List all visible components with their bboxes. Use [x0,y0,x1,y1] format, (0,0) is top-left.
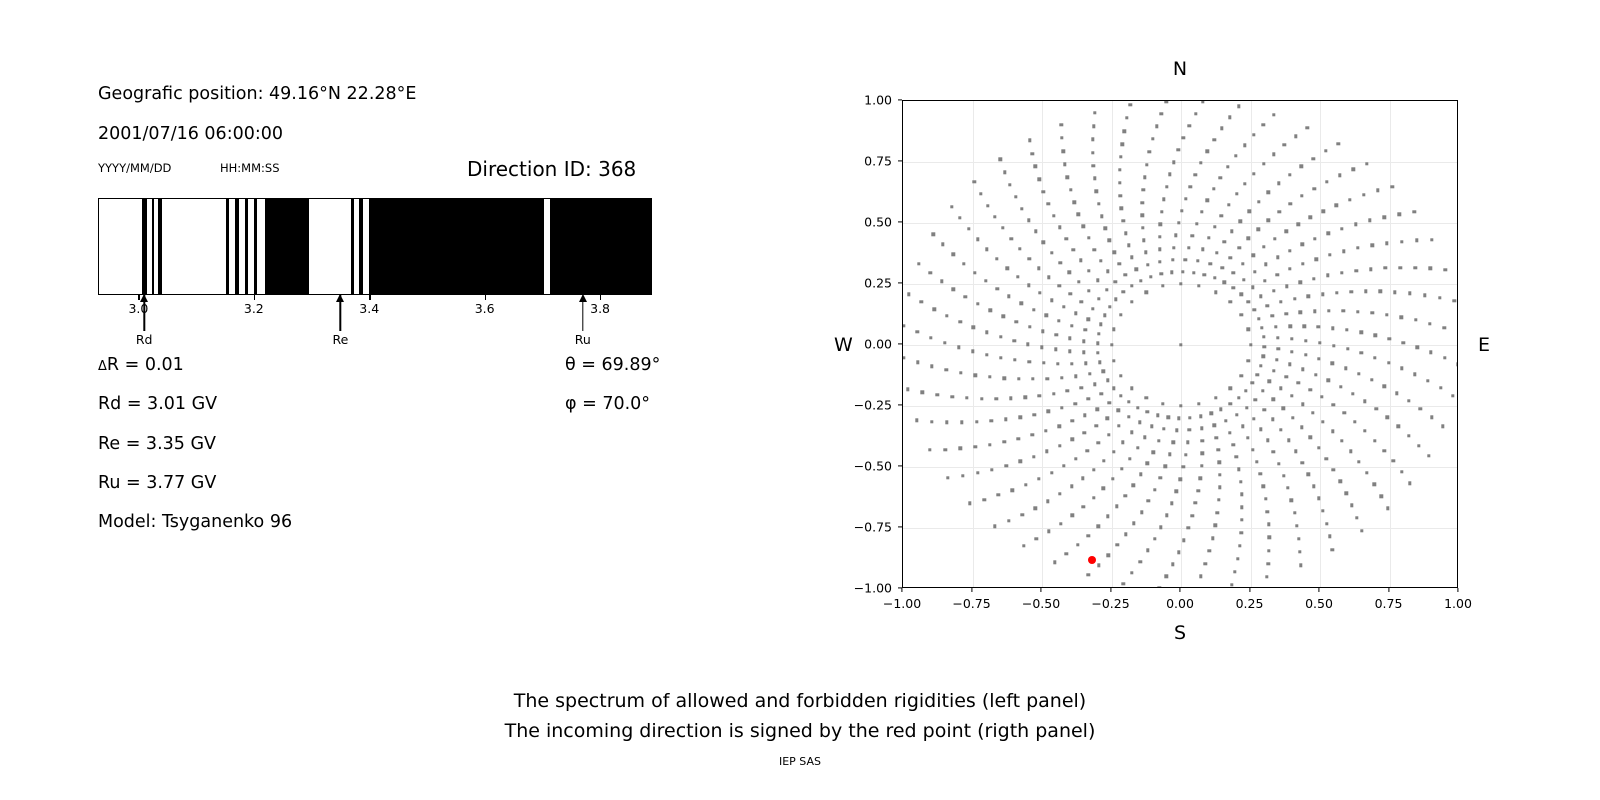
direction-dot [1159,112,1162,115]
direction-dot [1299,564,1302,567]
direction-dot [1239,374,1242,377]
direction-dot [1033,413,1036,416]
param-ru: Ru = 3.77 GV [98,473,216,493]
direction-dot [1293,297,1296,300]
x-tick-label: 0.75 [1375,596,1403,611]
forbidden-band [152,199,155,294]
rigidity-spectrum-panel: Geografic position: 49.16°N 22.28°E 2001… [0,0,760,680]
direction-dot [1272,289,1275,292]
direction-dot [1350,504,1353,507]
direction-dot [974,374,977,377]
direction-dot [1240,505,1243,508]
direction-dot [1443,326,1446,329]
direction-dot [1167,416,1170,419]
x-tick-mark [1179,588,1180,592]
direction-dot [1259,428,1262,431]
time-format-hint: HH:MM:SS [220,161,280,175]
direction-dot [1053,561,1056,564]
direction-dot [1227,203,1230,206]
direction-dot [1017,437,1020,440]
direction-dot [1088,372,1091,375]
direction-dot [1018,460,1021,463]
direction-dot [1374,333,1377,336]
direction-dot [1304,339,1307,342]
direction-dot [1306,126,1309,129]
direction-dot [1184,453,1187,456]
direction-dot [1297,381,1300,384]
direction-dot [1054,348,1057,351]
forbidden-band [359,199,363,294]
direction-dot [1055,333,1058,336]
direction-dot [1104,227,1107,230]
direction-dot [1177,148,1180,151]
direction-dot [1108,305,1111,308]
direction-dot [1200,427,1203,430]
direction-dot [1115,505,1118,508]
direction-dot [1324,149,1327,152]
direction-dot [1301,402,1304,405]
direction-dot [1027,284,1030,287]
direction-dot [965,396,968,399]
direction-dot [1298,550,1301,553]
direction-dot [1277,462,1280,465]
forbidden-band [226,199,230,294]
direction-dot [1081,476,1084,479]
direction-dot [1286,486,1289,489]
direction-dot [1052,392,1055,395]
direction-dot [1061,150,1064,153]
direction-dot [1266,439,1269,442]
x-tick-label: 0.50 [1305,596,1333,611]
direction-dot [1171,563,1174,566]
direction-dot [1152,450,1155,453]
direction-dot [996,287,999,290]
direction-dot [985,353,988,356]
direction-dot [1110,343,1113,346]
direction-dot [1200,464,1203,467]
direction-dot [982,498,985,501]
direction-dot [916,330,919,333]
direction-dot [1321,509,1324,512]
direction-dot [1213,276,1216,279]
direction-dot [1392,459,1395,462]
direction-dot [1252,308,1255,311]
direction-dot [1072,248,1075,251]
direction-dot [1283,143,1286,146]
direction-dot [1170,502,1173,505]
direction-dot [941,243,944,246]
direction-dot [1301,367,1304,370]
x-tick-mark [901,588,902,592]
direction-dot [1151,137,1154,140]
direction-dot [1212,424,1215,427]
direction-dot [976,238,979,241]
direction-dot [1201,451,1204,454]
direction-dot [1219,408,1222,411]
direction-dot [1028,325,1031,328]
direction-scatter-area [903,101,1457,587]
direction-dot [1265,575,1268,578]
direction-dot [1023,396,1026,399]
direction-dot [1266,304,1269,307]
param-model: Model: Tsyganenko 96 [98,512,292,532]
direction-dot [1271,418,1274,421]
direction-dot [1130,256,1133,259]
direction-dot [1172,246,1175,249]
direction-dot [1080,300,1083,303]
direction-dot [1013,339,1016,342]
direction-dot [1114,297,1117,300]
direction-dot [952,288,955,291]
direction-dot [1081,225,1084,228]
direction-dot [936,393,939,396]
param-re: Re = 3.35 GV [98,434,216,454]
direction-dot [1239,531,1242,534]
direction-dot [1298,280,1301,283]
direction-dot [1359,331,1362,334]
direction-dot [1145,163,1148,166]
direction-dot [1219,176,1222,179]
direction-dot [1013,358,1016,361]
incoming-direction-marker [1088,556,1096,564]
direction-dot [1228,431,1231,434]
direction-dot [1429,267,1432,270]
direction-dot [1180,209,1183,212]
direction-dot [1353,420,1356,423]
direction-dot [1312,277,1315,280]
direction-dot [1124,273,1127,276]
direction-dot [1149,275,1152,278]
direction-dot [1399,315,1402,318]
direction-dot [1235,455,1238,458]
direction-dot [1288,173,1291,176]
direction-dot [1438,296,1441,299]
direction-dot [1188,124,1191,127]
direction-dot [1277,210,1280,213]
direction-dot [1309,216,1312,219]
direction-dot [1399,266,1402,269]
x-tick-label: −1.00 [883,596,921,611]
direction-dot [932,307,935,310]
direction-dot [1119,313,1122,316]
direction-dot [1363,399,1366,402]
direction-dot [1380,494,1383,497]
direction-dot [1276,347,1279,350]
direction-dot [1079,259,1082,262]
forbidden-band [265,199,309,294]
direction-dot [1279,387,1282,390]
direction-dot [1234,154,1237,157]
direction-dot [1130,300,1133,303]
direction-dot [1263,279,1266,282]
direction-dot [1127,400,1130,403]
direction-dot [1033,507,1036,510]
direction-dot [1106,378,1109,381]
direction-dot [1383,449,1386,452]
direction-dot [1385,241,1388,244]
direction-dot [1197,284,1200,287]
direction-dot [1331,429,1334,432]
direction-dot [1003,170,1006,173]
rigidity-tick-label: 3.2 [244,301,264,316]
direction-dot [1082,339,1085,342]
direction-dot [1132,522,1135,525]
direction-dot [1335,291,1338,294]
direction-dot [1289,202,1292,205]
direction-dot [1246,328,1249,331]
direction-dot [1208,549,1211,552]
direction-dot [1456,362,1457,365]
direction-dot [1097,297,1100,300]
direction-dot [1096,407,1099,410]
direction-dot [1363,429,1366,432]
direction-dot [1325,180,1328,183]
direction-dot [1294,134,1297,137]
param-rd: Rd = 3.01 GV [98,394,217,414]
direction-dot [1096,279,1099,282]
direction-dot [1093,177,1096,180]
direction-dot [959,447,962,450]
direction-dot [1327,379,1330,382]
rigidity-tick-label: 3.0 [128,301,148,316]
direction-dot [1095,190,1098,193]
direction-dot [1062,305,1065,308]
direction-dot [1272,398,1275,401]
direction-dot [1035,537,1038,540]
direction-dot [1120,467,1123,470]
direction-dot [1429,351,1432,354]
x-tick-mark [1040,588,1041,592]
gridline-horizontal [903,528,1457,529]
direction-dot [1266,510,1269,513]
direction-dot [1158,235,1161,238]
direction-dot [1386,416,1389,419]
direction-dot [1317,497,1320,500]
direction-dot [1332,403,1335,406]
direction-dot [1294,450,1297,453]
direction-dot [1119,394,1122,397]
direction-dot [1102,487,1105,490]
direction-dot [1119,374,1122,377]
direction-dot [1218,486,1221,489]
y-tick-mark [898,587,902,588]
direction-dot [1400,240,1403,243]
direction-dot [972,326,975,329]
direction-dot [932,233,935,236]
y-tick-mark [898,343,902,344]
direction-dot [1203,273,1206,276]
gridline-vertical [973,101,974,587]
direction-dot [1118,181,1121,184]
direction-dot [1413,373,1416,376]
direction-dot [1041,329,1044,332]
direction-dot [1335,204,1338,207]
direction-dot [1188,416,1191,419]
direction-dot [1125,116,1128,119]
direction-dot [1123,129,1126,132]
direction-dot [1214,290,1217,293]
direction-dot [1037,477,1040,480]
y-tick-mark [898,160,902,161]
direction-dot [1150,425,1153,428]
y-tick-mark [898,404,902,405]
direction-dot [1179,282,1182,285]
direction-dot [1229,256,1232,259]
direction-dot [1087,534,1090,537]
direction-dot [1291,416,1294,419]
direction-dot [1130,284,1133,287]
direction-dot [1156,414,1159,417]
direction-dot [1060,123,1063,126]
direction-dot [1077,213,1080,216]
direction-dot [1236,557,1239,560]
direction-dot [1020,513,1023,516]
direction-dot [1171,258,1174,261]
direction-dot [1321,209,1324,212]
direction-dot [1162,198,1165,201]
direction-dot [1092,164,1095,167]
direction-dot [1338,174,1341,177]
direction-dot [1243,144,1246,147]
direction-dot [1340,271,1343,274]
direction-dot [1074,402,1077,405]
direction-dot [1285,375,1288,378]
direction-dot [1174,234,1177,237]
direction-dot [1216,448,1219,451]
direction-dot [1147,499,1150,502]
direction-dot [1124,494,1127,497]
rigidity-tick-label: 3.8 [590,301,610,316]
direction-dot [1076,543,1079,546]
direction-plot-frame [902,100,1458,588]
direction-dot [1093,383,1096,386]
direction-dot [1155,125,1158,128]
x-tick-label: −0.75 [952,596,990,611]
direction-dot [1092,496,1095,499]
footer-credit: IEP SAS [0,755,1600,768]
direction-dot [1356,246,1359,249]
direction-dot [1038,394,1041,397]
direction-dot [1168,453,1171,456]
direction-dot [1262,335,1265,338]
direction-dot [1164,465,1167,468]
direction-dot [1263,345,1266,348]
x-tick-mark [1249,588,1250,592]
direction-dot [1077,280,1080,283]
direction-dot [1199,414,1202,417]
direction-dot [1057,319,1060,322]
direction-dot [1272,153,1275,156]
direction-dot [1259,294,1262,297]
direction-dot [1139,279,1142,282]
direction-dot [1200,210,1203,213]
direction-dot [1120,207,1123,210]
direction-dot [1388,337,1391,340]
direction-dot [1257,317,1260,320]
direction-dot [1044,314,1047,317]
direction-dot [1145,396,1148,399]
direction-dot [1102,370,1105,373]
direction-dot [1383,215,1386,218]
direction-dot [989,309,992,312]
direction-dot [1351,392,1354,395]
direction-dot [1274,325,1277,328]
rigidity-tick-mark [369,295,370,300]
direction-dot [1368,219,1371,222]
direction-dot [1081,505,1084,508]
direction-dot [1199,574,1202,577]
direction-dot [1199,161,1202,164]
direction-dot [1003,377,1006,380]
arrow-head-icon [579,294,587,302]
direction-dot [1288,325,1291,328]
direction-dot [1352,168,1355,171]
direction-dot [1170,271,1173,274]
direction-dot [1179,343,1182,346]
direction-dot [1084,362,1087,365]
direction-dot [1087,317,1090,320]
rigidity-spectrum-bar [98,198,652,295]
direction-dot [1096,342,1099,345]
direction-dot [1312,157,1315,160]
direction-id-label: Direction ID: 368 [467,157,636,181]
direction-dot [1267,219,1270,222]
direction-dot [980,397,983,400]
direction-dot [1165,514,1168,517]
direction-dot [1096,351,1099,354]
direction-dot [1159,525,1162,528]
direction-dot [961,474,964,477]
direction-dot [1214,396,1217,399]
direction-dot [1246,359,1249,362]
direction-dot [1177,551,1180,554]
direction-dot [1241,262,1244,265]
direction-dot [1217,498,1220,501]
direction-dot [1031,377,1034,380]
direction-dot [1034,165,1037,168]
direction-dot [1288,249,1291,252]
rigidity-tick-label: 3.6 [475,301,495,316]
direction-dot [1233,570,1236,573]
direction-dot [1050,299,1053,302]
direction-dot [1317,357,1320,360]
direction-dot [1407,399,1410,402]
direction-dot [1240,493,1243,496]
direction-dot [1206,149,1209,152]
rigidity-marker-label: Rd [136,332,153,347]
direction-dot [1074,457,1077,460]
direction-dot [957,346,960,349]
direction-dot [985,248,988,251]
direction-dot [1321,420,1324,423]
direction-dot [1034,230,1037,233]
direction-dot [1261,389,1264,392]
direction-dot [1260,326,1263,329]
direction-dot [1044,429,1047,432]
direction-dot [1393,290,1396,293]
direction-dot [1040,345,1043,348]
direction-dot [995,257,998,260]
direction-dot [1218,461,1221,464]
direction-dot [1105,288,1108,291]
direction-dot [1098,361,1101,364]
direction-dot [1300,165,1303,168]
direction-dot [1407,434,1410,437]
direction-dot [1441,425,1444,428]
direction-dot [1086,573,1089,576]
direction-dot [1232,443,1235,446]
direction-dot [1140,213,1143,216]
